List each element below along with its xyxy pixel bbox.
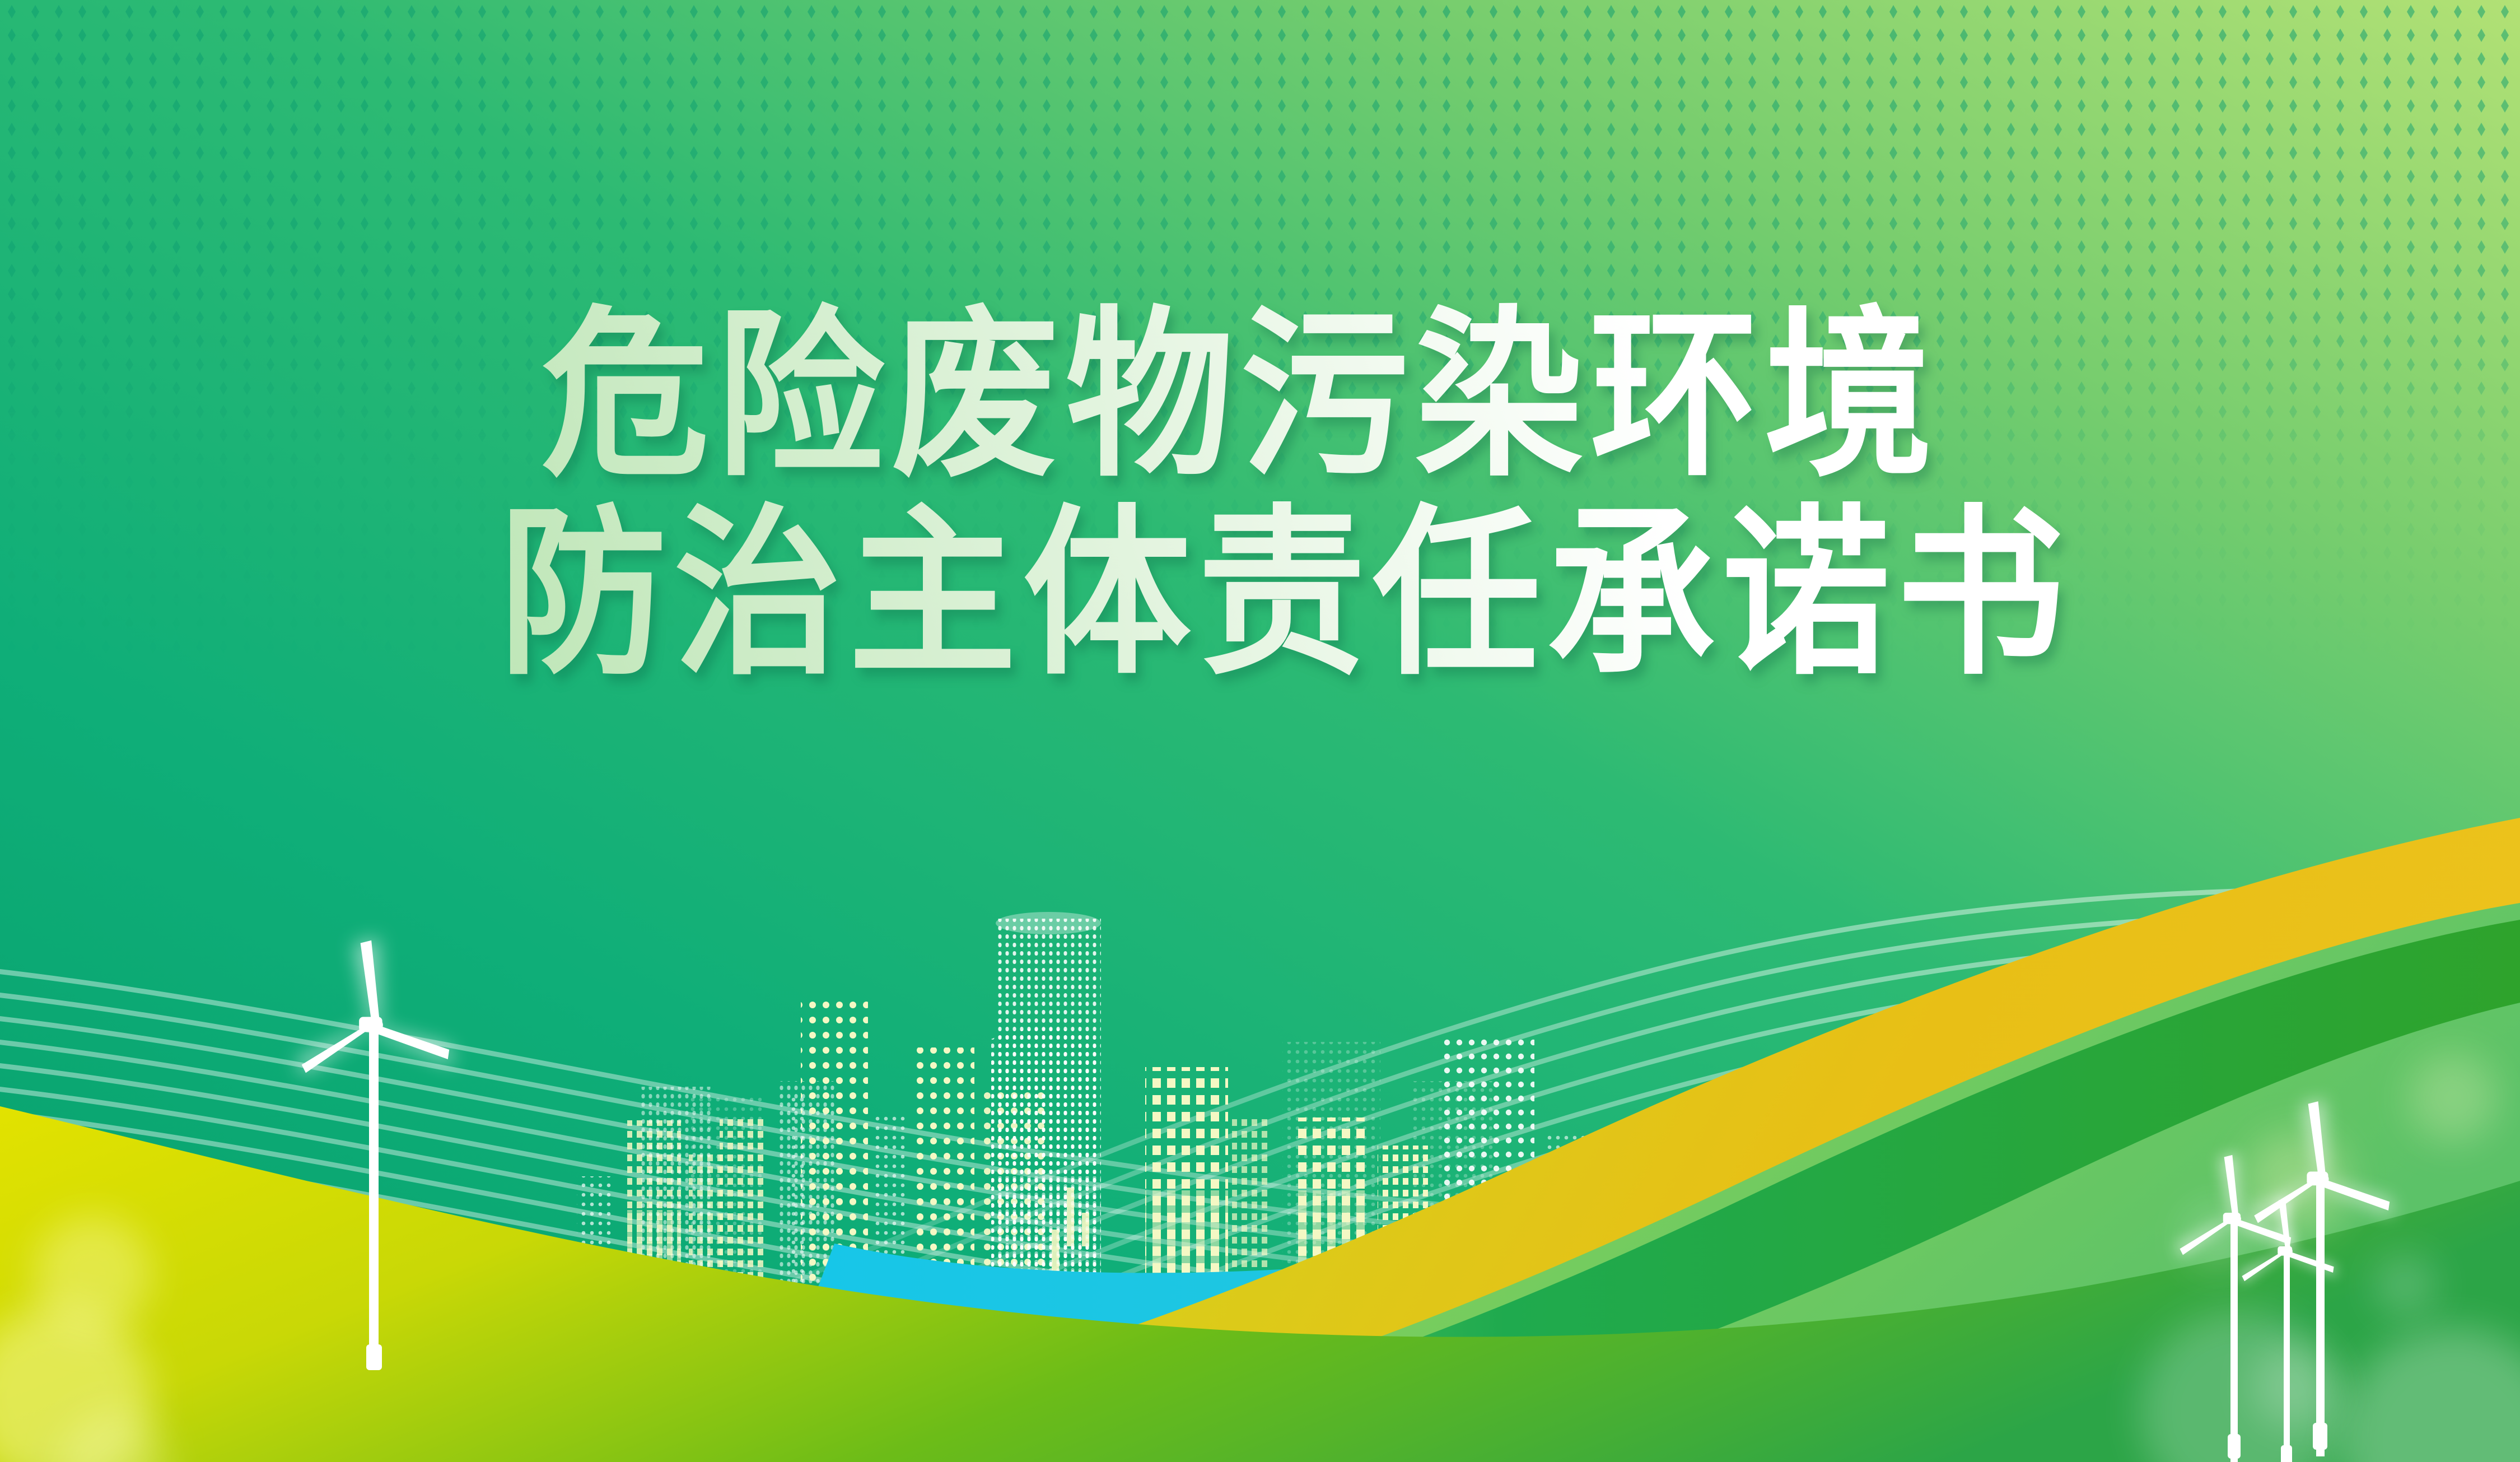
wind-turbine-left <box>296 938 454 1370</box>
wind-turbine-right-tall <box>2249 1099 2393 1456</box>
poster-banner: 危险废物污染环境 防治主体责任承诺书 <box>0 0 2520 1462</box>
wind-turbines <box>0 0 2520 1462</box>
